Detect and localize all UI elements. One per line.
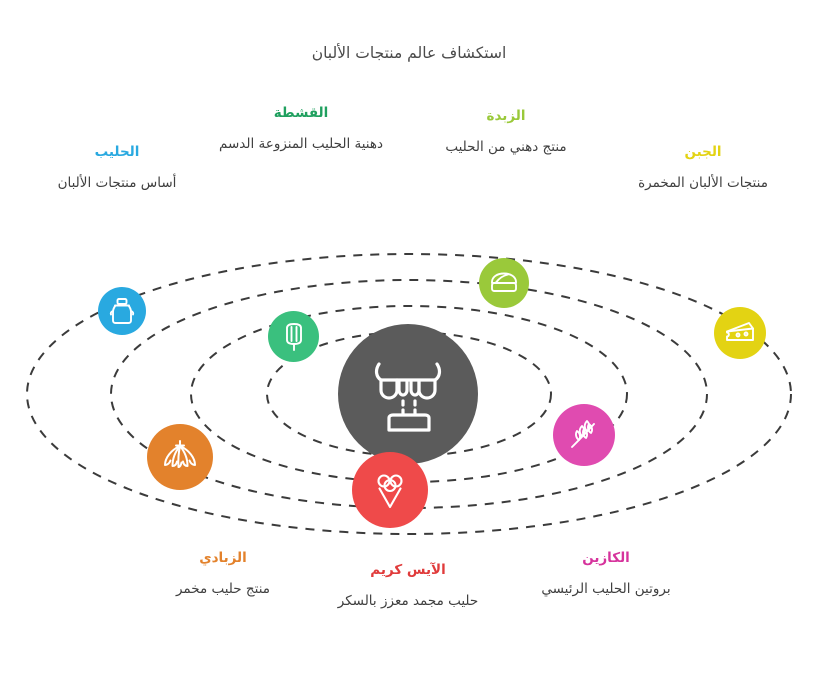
butter-block-icon (489, 271, 519, 295)
label-icecream-title: الآيس كريم (313, 562, 503, 579)
label-icecream-desc: حليب مجمد معزز بالسكر (313, 592, 503, 611)
infographic-canvas: استكشاف عالم منتجات الألبان (0, 0, 818, 674)
milk-can-icon (109, 297, 135, 325)
label-yogurt-desc: منتج حليب مخمر (128, 580, 318, 599)
label-milk-desc: أساس منتجات الألبان (22, 174, 212, 193)
label-milk-title: الحليب (22, 144, 212, 161)
node-yogurt[interactable] (147, 424, 213, 490)
node-cream[interactable] (268, 311, 319, 362)
label-yogurt: الزبادي منتج حليب مخمر (128, 550, 318, 599)
node-butter[interactable] (479, 258, 529, 308)
ice-cream-cone-icon (372, 470, 408, 510)
wheat-leaf-icon (568, 419, 600, 451)
label-milk: الحليب أساس منتجات الألبان (22, 144, 212, 193)
label-casein-title: الكازين (508, 550, 704, 567)
node-icecream[interactable] (352, 452, 428, 528)
label-butter-desc: منتج دهني من الحليب (413, 138, 599, 157)
cheese-wedge-icon (724, 320, 756, 346)
label-cheese: الجبن منتجات الألبان المخمرة (608, 144, 798, 193)
label-casein-desc: بروتين الحليب الرئيسي (508, 580, 704, 599)
label-cream-desc: دهنية الحليب المنزوعة الدسم (208, 135, 394, 154)
node-casein[interactable] (553, 404, 615, 466)
label-cream: القشطة دهنية الحليب المنزوعة الدسم (208, 105, 394, 154)
label-butter-title: الزبدة (413, 108, 599, 125)
label-yogurt-title: الزبادي (128, 550, 318, 567)
label-cheese-title: الجبن (608, 144, 798, 161)
label-cheese-desc: منتجات الألبان المخمرة (608, 174, 798, 193)
center-node-dairy-source[interactable] (338, 324, 478, 464)
cow-udder-milking-icon (365, 354, 451, 434)
label-butter: الزبدة منتج دهني من الحليب (413, 108, 599, 157)
label-casein: الكازين بروتين الحليب الرئيسي (508, 550, 704, 599)
label-cream-title: القشطة (208, 105, 394, 122)
label-icecream: الآيس كريم حليب مجمد معزز بالسكر (313, 562, 503, 611)
node-cheese[interactable] (714, 307, 766, 359)
popsicle-icon (282, 322, 306, 352)
yogurt-cloth-bundle-icon (161, 439, 199, 475)
node-milk[interactable] (98, 287, 146, 335)
